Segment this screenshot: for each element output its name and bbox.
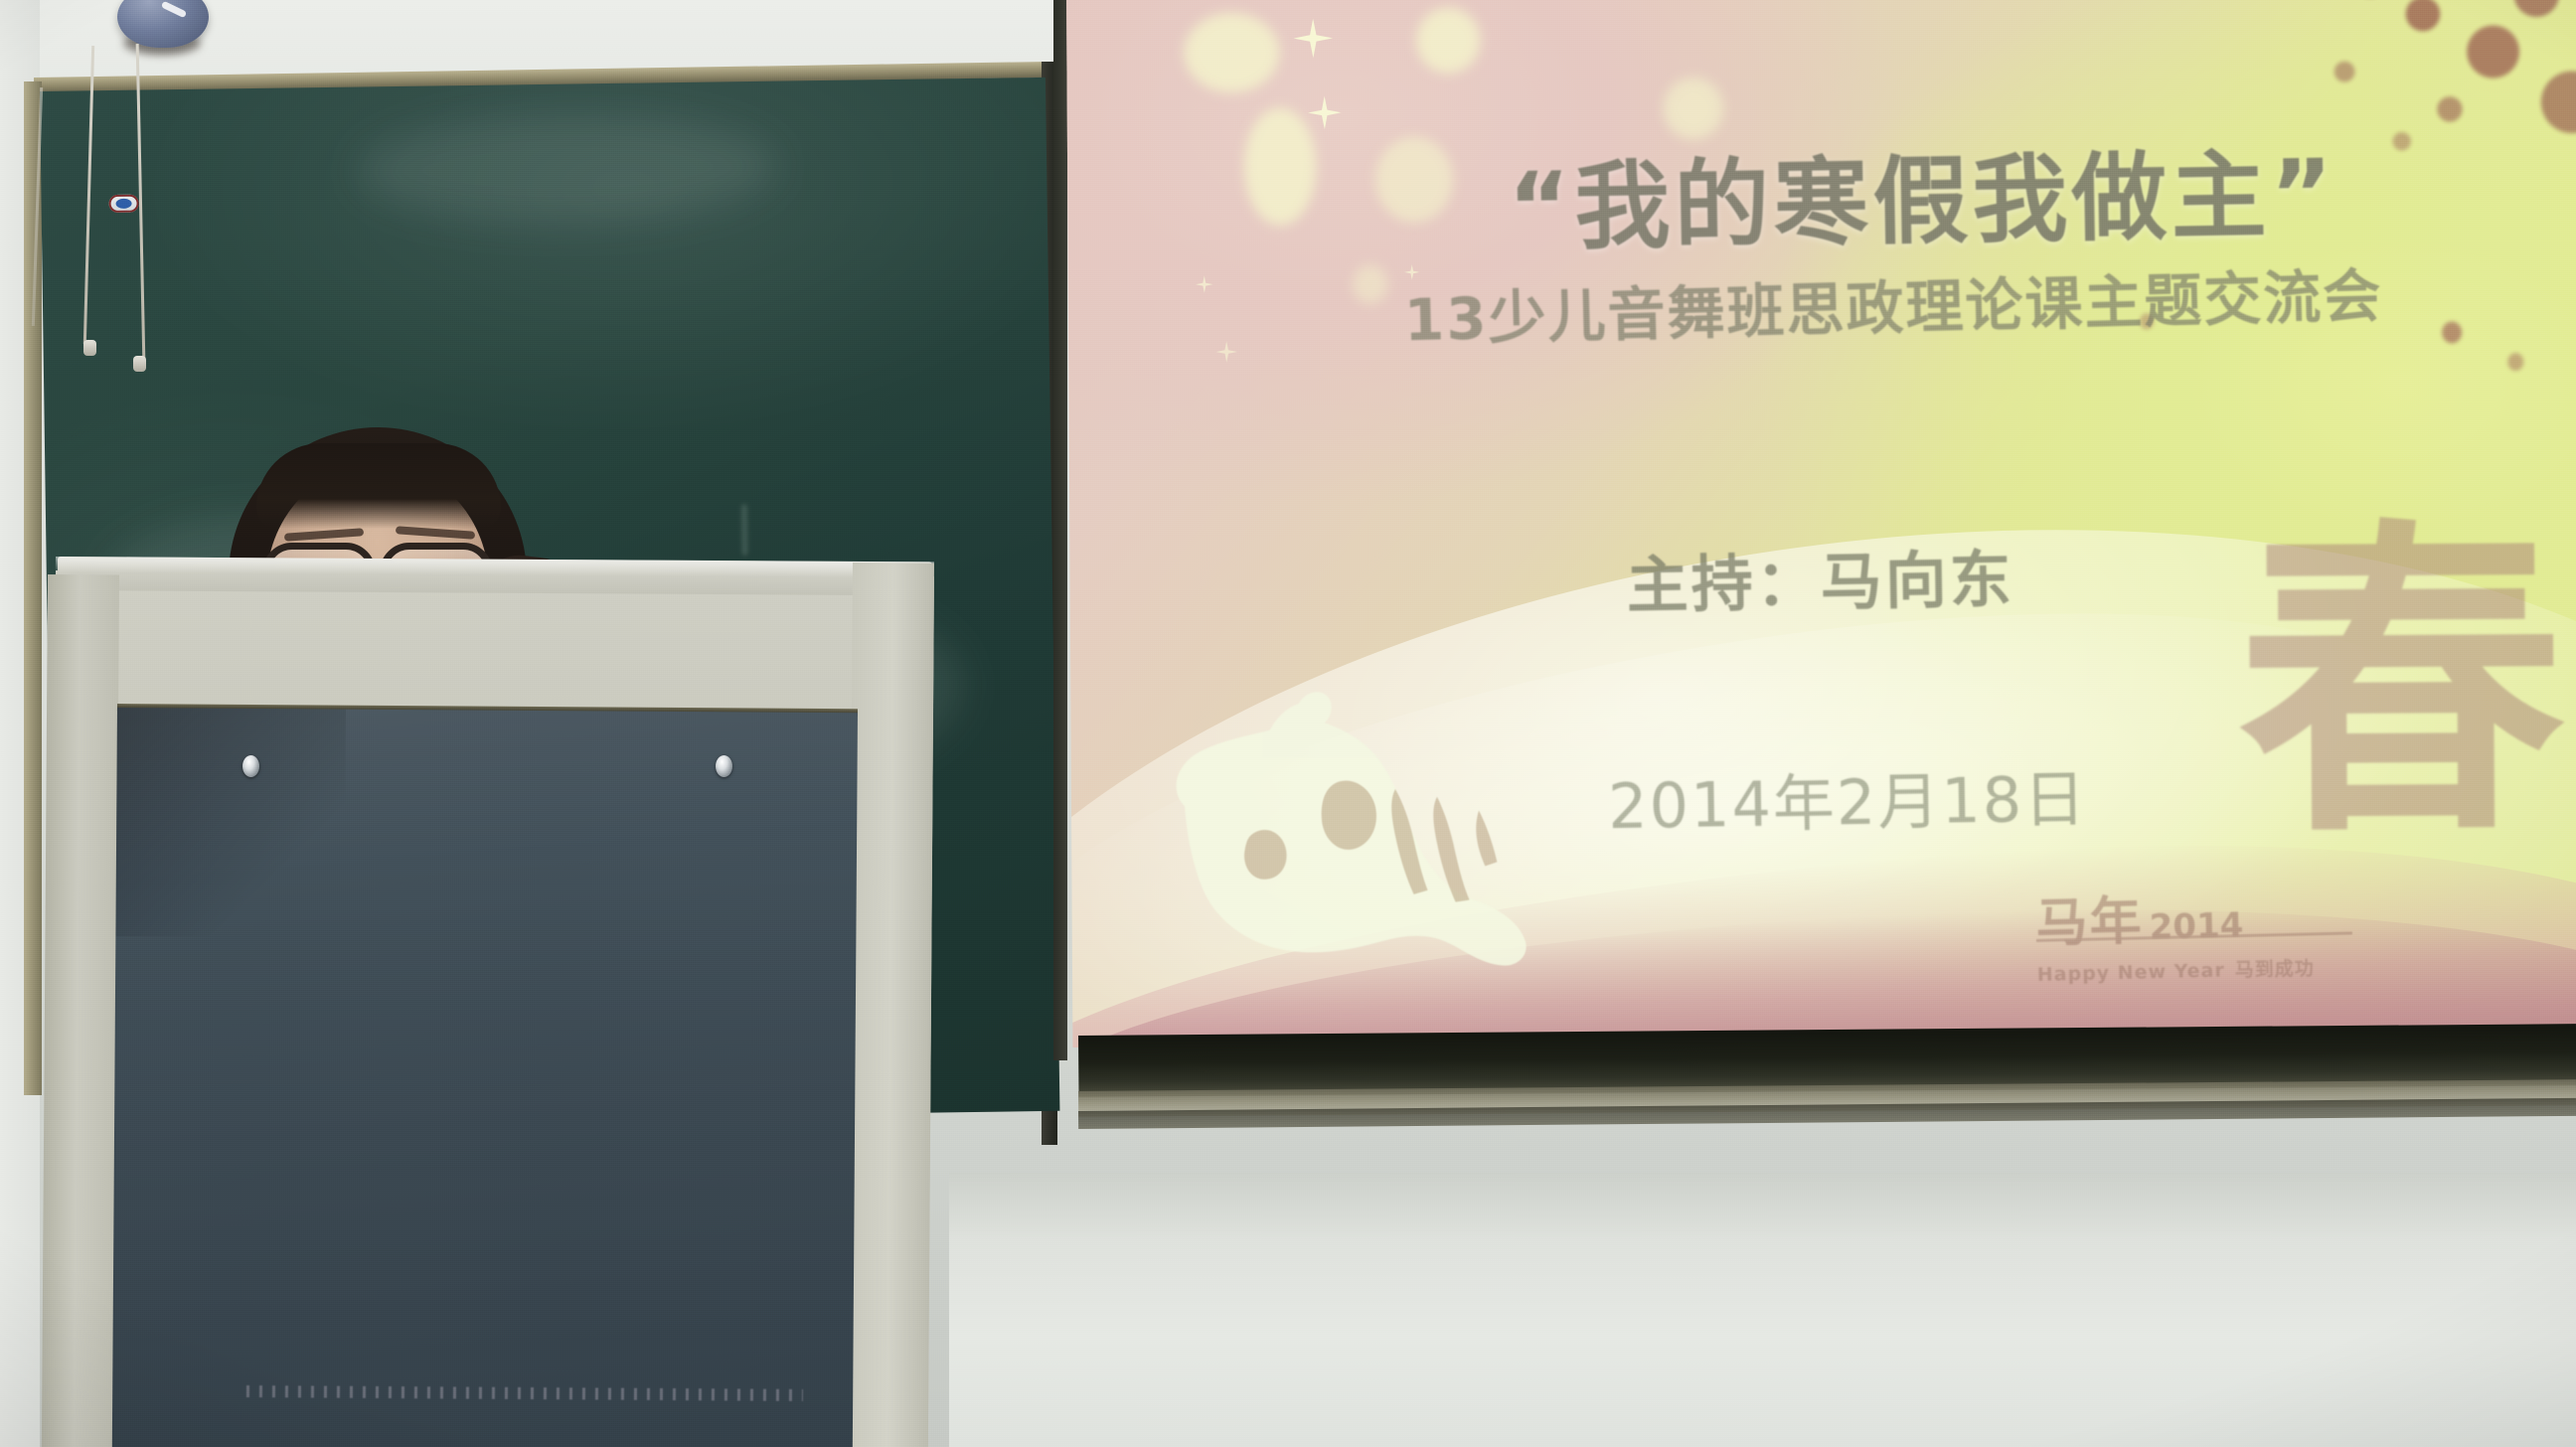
- logo-sub-cn: 马到成功: [2234, 953, 2315, 982]
- screen-left-edge: [1053, 0, 1067, 1060]
- new-year-logo: 马年 2014 Happy New Year 马到成功: [2035, 874, 2365, 987]
- slide-date-line: 2014年2月18日: [1607, 748, 2088, 846]
- logo-sub-row: Happy New Year 马到成功: [2036, 952, 2365, 987]
- classroom-photo: 春: [0, 0, 2576, 1447]
- logo-main-text: 马年: [2035, 879, 2145, 956]
- lectern-panel-shadow: [115, 708, 346, 938]
- lectern-left-post: [42, 574, 119, 1447]
- hair-fringe: [256, 443, 501, 529]
- logo-year: 2014: [2149, 905, 2244, 947]
- wall-lower-right: [949, 1173, 2576, 1447]
- cord-knob[interactable]: [133, 356, 146, 372]
- slide-text-group: “我的寒假我做主” 13少儿音舞班思政理论课主题交流会 主持：马向东 2014年…: [1066, 0, 2576, 1047]
- board-sticker: [108, 195, 138, 213]
- screw-right: [716, 755, 732, 777]
- lectern-right-post: [847, 563, 934, 1447]
- slide-title: “我的寒假我做主”: [1315, 114, 2529, 272]
- projection-screen: 春: [1066, 0, 2576, 1047]
- logo-main-row: 马年 2014: [2035, 874, 2365, 956]
- cord-knob[interactable]: [83, 340, 96, 356]
- lectern: [48, 557, 932, 1447]
- slide-host-line: 主持：马向东: [1626, 529, 2014, 624]
- chalk-smudge: [358, 111, 776, 227]
- chalk-mark: [741, 504, 748, 556]
- logo-sub-en: Happy New Year: [2037, 959, 2225, 985]
- chalkboard-frame-left: [24, 81, 42, 1095]
- screw-left: [242, 755, 259, 777]
- projected-slide: 春: [1066, 0, 2576, 1047]
